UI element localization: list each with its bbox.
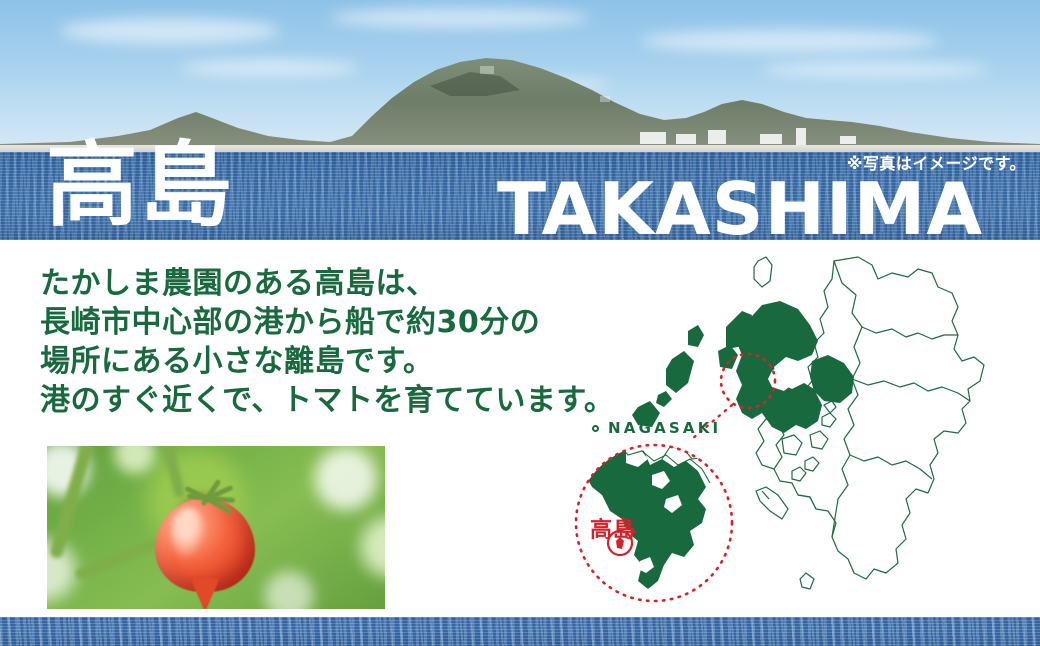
cloud: [640, 30, 940, 52]
photo-disclaimer: ※写真はイメージです。: [847, 150, 1026, 174]
cloud: [330, 8, 590, 28]
nagasaki-marker-dot: [592, 425, 599, 432]
description-line-4: 港のすぐ近くで、トマトを育てています。: [40, 381, 614, 420]
description-line-2: 長崎市中心部の港から船で約30分の: [40, 303, 614, 342]
tomato-photo: [47, 446, 385, 609]
page-title-en: TAKASHIMA: [497, 173, 983, 245]
description-line-1: たかしま農園のある高島は、: [40, 264, 614, 303]
footer-water-strip: [0, 617, 1040, 646]
tomato-highlight: [171, 508, 207, 560]
description-text: たかしま農園のある高島は、 長崎市中心部の港から船で約30分の 場所にある小さな…: [40, 264, 614, 420]
promo-card: 高島 TAKASHIMA ※写真はイメージです。 たかしま農園のある高島は、 長…: [0, 0, 1040, 646]
page-title-jp: 高島: [46, 140, 234, 232]
cloud: [60, 18, 280, 44]
map-label-takashima: 高島: [590, 512, 636, 544]
description-line-3: 場所にある小さな離島です。: [40, 342, 614, 381]
tomato-calyx: [183, 476, 231, 506]
map-label-nagasaki: NAGASAKI: [608, 419, 721, 437]
location-map: NAGASAKI 高島: [566, 243, 1036, 615]
